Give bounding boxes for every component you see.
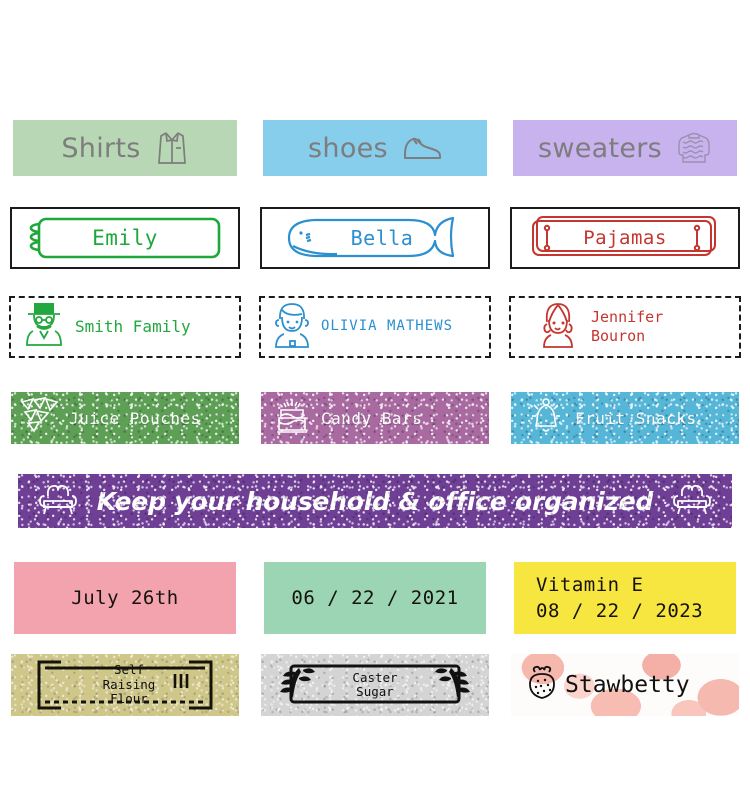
label-sample-sheet: Shirts shoes [0,0,750,796]
label-cell: OLIVIA MATHEWS [250,293,500,361]
row-category-labels: Shirts shoes [0,118,750,178]
row-framed-name-labels: Emily Bella [0,205,750,271]
label-cell: Stawbetty [500,650,750,720]
label-candy-bars[interactable]: Candy Bars [261,392,489,444]
label-juice-pouches[interactable]: Juice Pouches [11,392,239,444]
label-text: Smith Family [75,317,191,337]
label-caster-sugar[interactable]: Caster Sugar [261,654,489,716]
label-text: sweaters [538,133,662,164]
whale-frame-icon: Bella [277,215,473,261]
bell-icon [529,396,563,440]
shoe-icon [402,133,442,163]
cake-icon [275,396,309,440]
label-cell: Vitamin E 08 / 22 / 2023 [500,560,750,636]
label-text: Fruit Snacks [575,409,697,428]
label-keep-organized[interactable]: Keep your household & office organized [18,474,732,528]
label-text: shoes [308,133,388,164]
label-cell: July 26th [0,560,250,636]
label-cell: sweaters [500,118,750,178]
label-text: 06 / 22 / 2021 [291,587,458,609]
label-text-line2: 08 / 22 / 2023 [536,600,703,622]
label-pajamas[interactable]: Pajamas [510,207,740,269]
label-text-line2: Sugar [352,685,397,699]
row-dashed-person-labels: Smith Family OLIVIA MAT [0,293,750,361]
boy-icon [271,300,313,354]
label-cell: Bella [250,205,500,271]
label-july-26th[interactable]: July 26th [14,562,236,634]
label-cell: Fruit Snacks [500,386,750,450]
label-smith-family[interactable]: Smith Family [9,296,241,358]
label-self-raising-flour[interactable]: Self Raising Flour [11,654,239,716]
sweater-icon [676,130,712,166]
sofa-icon [671,482,713,520]
label-text-line2: Raising [103,678,156,692]
label-text-line1: Vitamin E [536,574,643,596]
label-vitamin-e[interactable]: Vitamin E 08 / 22 / 2023 [514,562,736,634]
label-text-block: Caster Sugar [352,671,397,700]
label-date-06-22-2021[interactable]: 06 / 22 / 2021 [264,562,486,634]
label-cell: Emily [0,205,250,271]
label-text: Shirts [61,133,140,164]
label-cell: Shirts [0,118,250,178]
label-text: Bella [351,226,414,250]
strawberry-icon [525,665,559,705]
label-fruit-snacks[interactable]: Fruit Snacks [511,392,739,444]
label-text-block: Jennifer Bouron [591,308,663,346]
label-text: OLIVIA MATHEWS [321,318,453,336]
label-cell: Smith Family [0,293,250,361]
label-shoes[interactable]: shoes [263,120,487,176]
label-shirts[interactable]: Shirts [13,120,237,176]
shirt-icon [155,130,189,166]
label-text: July 26th [71,587,178,609]
sofa-icon [37,482,79,520]
label-text-block: Self Raising Flour [103,663,156,706]
bunting-icon [19,396,61,440]
label-sweaters[interactable]: sweaters [513,120,737,176]
girl-icon [537,300,579,354]
label-text: Juice Pouches [69,409,201,428]
label-text-line1: Self [103,663,156,677]
label-text: Pajamas [583,227,667,249]
label-text-line2: Bouron [591,327,663,346]
label-text-line1: Caster [352,671,397,685]
label-cell: shoes [250,118,500,178]
label-jennifer-bouron[interactable]: Jennifer Bouron [509,296,741,358]
label-text: Stawbetty [565,672,690,698]
label-cell: Caster Sugar [250,650,500,720]
row-wide-banner: Keep your household & office organized [0,474,750,536]
label-bella[interactable]: Bella [260,207,490,269]
gentleman-icon [21,300,67,354]
label-stawbetty[interactable]: Stawbetty [511,654,739,716]
row-glitter-snack-labels: Juice Pouches Candy Bars [0,386,750,450]
label-cell: Pajamas [500,205,750,271]
label-emily[interactable]: Emily [10,207,240,269]
row-pantry-labels: Self Raising Flour [0,650,750,720]
notebook-frame-icon: Emily [27,215,223,261]
label-text-line1: Jennifer [591,308,663,327]
label-cell: Self Raising Flour [0,650,250,720]
label-cell: Candy Bars [250,386,500,450]
label-cell: Jennifer Bouron [500,293,750,361]
row-date-labels: July 26th 06 / 22 / 2021 Vitamin E 08 / … [0,560,750,636]
label-text: Emily [92,226,158,250]
plaque-frame-icon: Pajamas [527,215,723,261]
label-text: Candy Bars [321,409,422,428]
label-olivia-mathews[interactable]: OLIVIA MATHEWS [259,296,491,358]
label-text-line3: Flour [103,692,156,706]
label-cell: Juice Pouches [0,386,250,450]
label-cell: 06 / 22 / 2021 [250,560,500,636]
label-text: Keep your household & office organized [97,487,654,516]
